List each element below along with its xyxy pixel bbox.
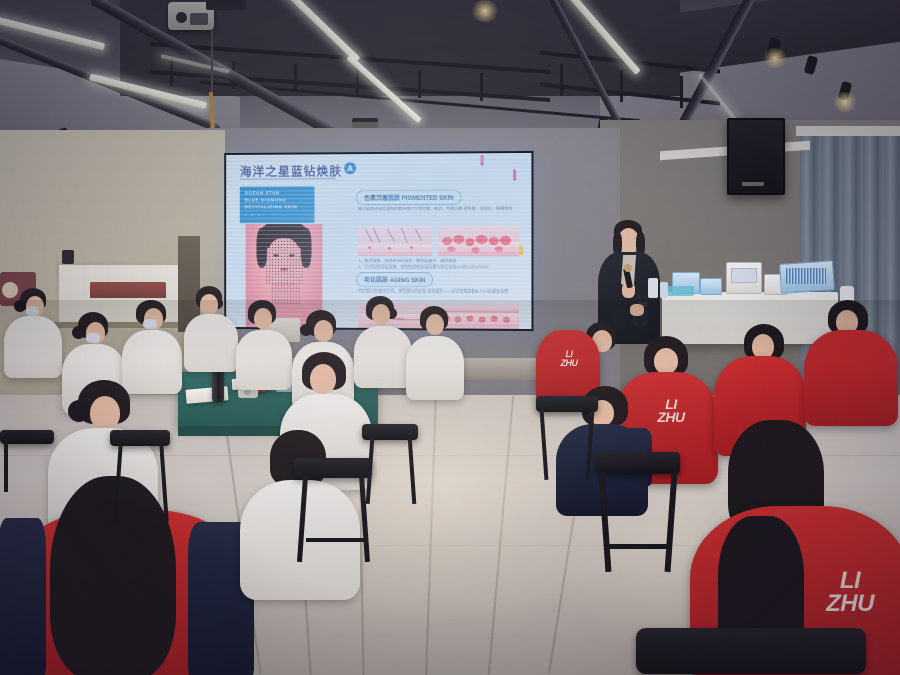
chair bbox=[0, 430, 54, 444]
chair bbox=[596, 452, 680, 474]
section-body-pigmented: 被污染的环境及强烈的紫外线产生黑色素、暗沉、色素沉着 老年斑、炎症后、暗褐色斑 bbox=[358, 206, 519, 212]
product-box-blue bbox=[700, 278, 722, 295]
section-note-2: 2、针对肌肤深层改善、特别制定的抗衰因素与修正导致UV的TURNOVER bbox=[358, 264, 525, 270]
vest-logo: LI ZHU bbox=[550, 350, 588, 367]
chair bbox=[636, 628, 866, 674]
brand-dots: ▪ ▪ ▪ bbox=[245, 213, 310, 220]
microphone-head-icon bbox=[624, 264, 632, 272]
face-mask bbox=[143, 319, 157, 329]
whiteboard-banner bbox=[90, 282, 166, 298]
face-mask bbox=[26, 306, 39, 316]
diagram-aging-right bbox=[438, 302, 519, 329]
brand-box: OCEAN STAR BLUE DIAMOND REVITALIZING SKI… bbox=[240, 186, 315, 223]
section-pill-aging: 老化肌肤 AGING SKIN bbox=[356, 272, 433, 287]
face-mask bbox=[86, 333, 100, 343]
section-body-aging: 对应细小的皱纹生成、弹性蛋白的松弛 紧致提升——对应特殊定制B-TOX抗老化系统 bbox=[358, 288, 523, 295]
diagram-pigment-left bbox=[358, 226, 432, 256]
team-vest bbox=[804, 330, 898, 426]
brand-logo-icon: A bbox=[344, 162, 356, 174]
seminar-room-photo: 海洋之星蓝钻焕肤 A OCEAN STAR BLUE DIAMOND REVIT… bbox=[0, 0, 900, 675]
vest-logo: LI ZHU bbox=[642, 398, 700, 425]
vest-logo: LI ZHU bbox=[804, 570, 896, 616]
chair bbox=[536, 396, 598, 412]
section-pill-pigmented: 色素沉着肌肤 PIGMENTED SKIN bbox=[356, 190, 462, 205]
diagram-pigment-right bbox=[438, 226, 519, 256]
chair bbox=[294, 458, 372, 478]
slide-title: 海洋之星蓝钻焕肤 bbox=[240, 162, 342, 179]
brand-line-3: REVITALIZING SKIN bbox=[245, 204, 310, 211]
